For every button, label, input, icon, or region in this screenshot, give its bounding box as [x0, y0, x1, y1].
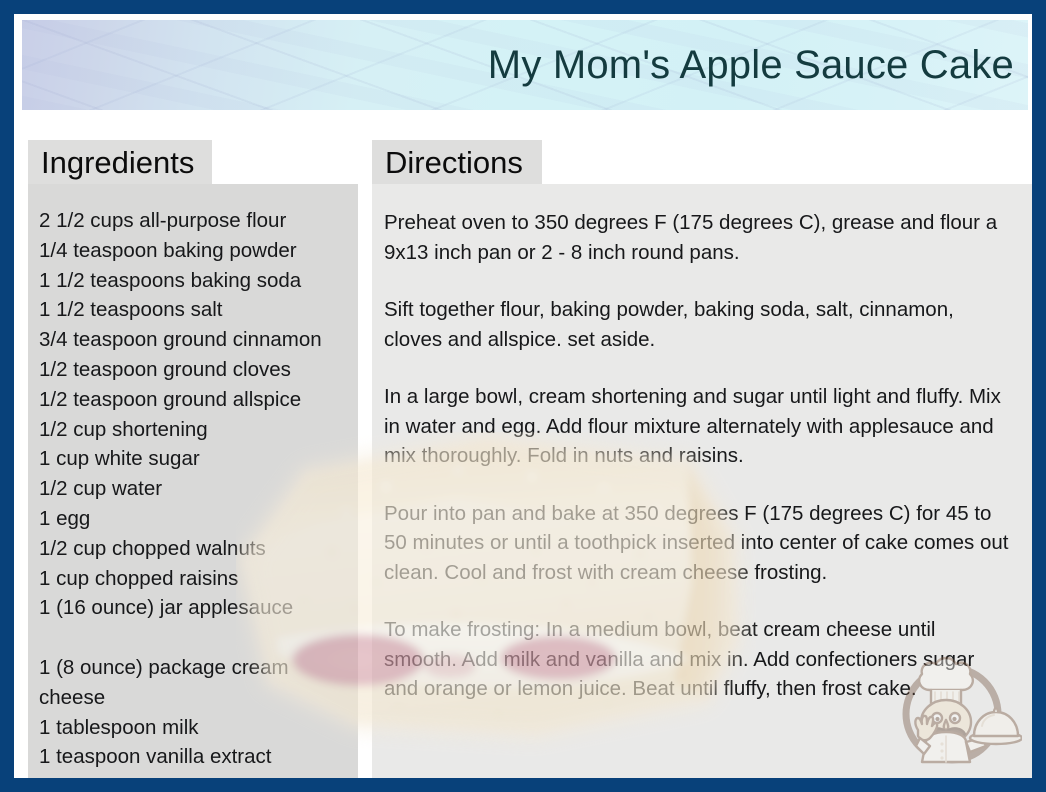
ingredient-item: 3/4 teaspoon ground cinnamon	[39, 325, 348, 355]
page-title: My Mom's Apple Sauce Cake	[488, 45, 1028, 85]
ingredient-item: 1 1/2 teaspoons baking soda	[39, 266, 348, 296]
ingredient-item: 1 egg	[39, 504, 348, 534]
direction-step: To make frosting: In a medium bowl, beat…	[384, 615, 1012, 704]
ingredient-item: 1 tablespoon milk	[39, 713, 348, 743]
directions-heading: Directions	[372, 147, 523, 178]
ingredient-item: 1/4 teaspoon baking powder	[39, 236, 348, 266]
recipe-card: My Mom's Apple Sauce Cake 2 1/2 cups all…	[0, 0, 1046, 792]
direction-step: In a large bowl, cream shortening and su…	[384, 382, 1012, 471]
ingredient-item: 1 1/2 teaspoons salt	[39, 295, 348, 325]
title-banner: My Mom's Apple Sauce Cake	[22, 20, 1028, 110]
ingredients-section-tab: Ingredients	[28, 140, 212, 184]
recipe-page: My Mom's Apple Sauce Cake 2 1/2 cups all…	[14, 14, 1032, 778]
direction-step: Sift together flour, baking powder, baki…	[384, 295, 1012, 354]
ingredient-item: 1/2 cup shortening	[39, 415, 348, 445]
ingredient-item: 1/2 teaspoon ground allspice	[39, 385, 348, 415]
direction-step: Preheat oven to 350 degrees F (175 degre…	[384, 208, 1012, 267]
ingredient-item: 1/2 teaspoon ground cloves	[39, 355, 348, 385]
ingredients-panel: 2 1/2 cups all-purpose flour1/4 teaspoon…	[28, 184, 358, 778]
ingredient-item: 1 (16 ounce) jar applesauce	[39, 593, 348, 623]
ingredients-group-spacer	[39, 623, 348, 653]
ingredient-item: 1 cup white sugar	[39, 444, 348, 474]
ingredient-item: 1 teaspoon vanilla extract	[39, 742, 348, 772]
ingredient-item: 5 1/2 cups sifted confectioners' sugar	[39, 772, 348, 778]
ingredient-item: 1 cup chopped raisins	[39, 564, 348, 594]
directions-section-tab: Directions	[372, 140, 542, 184]
ingredient-item: 1/2 cup chopped walnuts	[39, 534, 348, 564]
ingredients-list: 2 1/2 cups all-purpose flour1/4 teaspoon…	[28, 184, 358, 778]
ingredient-item: 2 1/2 cups all-purpose flour	[39, 206, 348, 236]
ingredients-heading: Ingredients	[28, 147, 194, 178]
ingredient-item: 1/2 cup water	[39, 474, 348, 504]
directions-panel: Preheat oven to 350 degrees F (175 degre…	[372, 184, 1032, 778]
ingredient-item: 1 (8 ounce) package cream cheese	[39, 653, 348, 713]
direction-step: Pour into pan and bake at 350 degrees F …	[384, 499, 1012, 588]
directions-body: Preheat oven to 350 degrees F (175 degre…	[372, 184, 1032, 704]
